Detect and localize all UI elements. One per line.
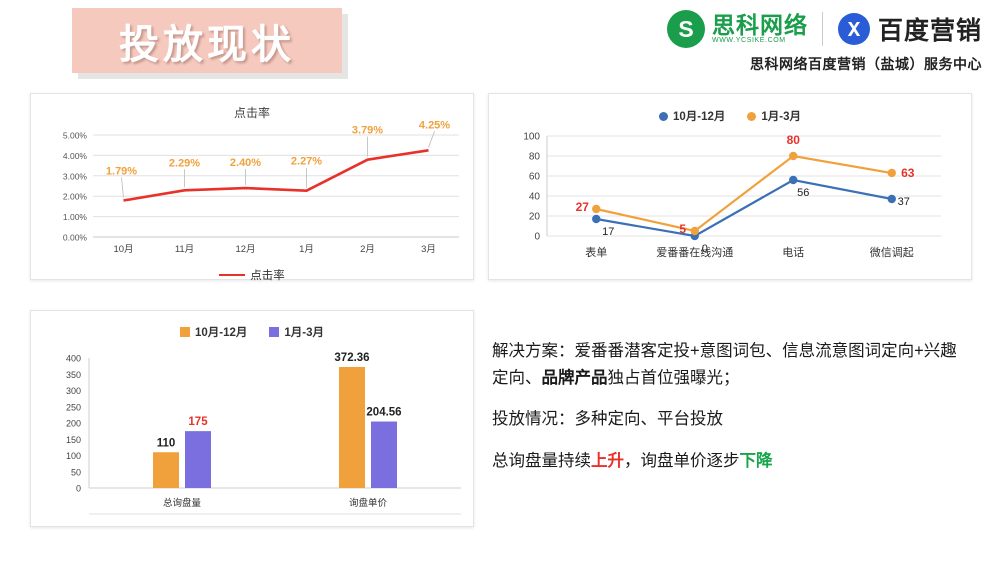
leads-legend-swatch-a (659, 112, 668, 121)
leads-ytick: 0 (534, 232, 540, 243)
leads-legend-swatch-b (747, 112, 756, 121)
bars-legend-label-a: 10月-12月 (195, 324, 247, 340)
ctr-ytick: 1.00% (63, 212, 88, 222)
brand-subtitle: 思科网络百度营销（盐城）服务中心 (562, 54, 982, 74)
bars-legend-swatch-b (269, 327, 279, 337)
bars-xtick: 询盘单价 (349, 497, 388, 509)
solution-bold-1: 品牌产品 (542, 369, 608, 387)
bars-xtick: 总询盘量 (163, 497, 202, 509)
ctr-ytick: 3.00% (63, 171, 88, 181)
baidu-logo-icon (837, 12, 871, 46)
leads-chart-plot: 02040608010017056372758063表单爱番番在线沟通电话微信调… (489, 124, 971, 274)
ctr-data-label: 2.40% (230, 157, 261, 169)
solution-text-3b: ，询盘单价逐步 (624, 452, 740, 470)
solution-trend-up: 上升 (591, 452, 624, 470)
leads-xtick: 爱番番在线沟通 (656, 245, 733, 259)
solution-label-2: 投放情况： (492, 410, 575, 428)
ctr-chart-panel: 点击率 0.00%1.00%2.00%3.00%4.00%5.00%1.79%2… (30, 93, 474, 280)
leads-xtick: 表单 (585, 245, 607, 259)
solution-text-2: 多种定向、平台投放 (575, 410, 724, 428)
leads-ytick: 40 (529, 192, 541, 203)
leads-label-b: 80 (787, 133, 801, 147)
baidu-logo-group: 百度营销 (837, 11, 982, 47)
sike-brand-name: 思科网络 (712, 13, 808, 37)
bars-ytick: 100 (66, 451, 81, 461)
ctr-xtick: 3月 (421, 244, 436, 255)
bars-data-label: 204.56 (366, 407, 401, 419)
ctr-xtick: 11月 (175, 244, 194, 255)
solution-text-1b: 独占首位强曝光； (608, 369, 740, 387)
solution-paragraph-3: 总询盘量持续上升，询盘单价逐步下降 (492, 448, 962, 475)
ctr-xtick: 12月 (235, 244, 255, 255)
sike-logo-group: S 思科网络 WWW.YCSIKE.COM (667, 10, 808, 48)
ctr-data-label: 2.27% (291, 156, 322, 168)
ctr-chart-plot: 0.00%1.00%2.00%3.00%4.00%5.00%1.79%2.29%… (31, 121, 473, 271)
solution-label-1: 解决方案： (492, 342, 575, 360)
bars-chart-legend: 10月-12月 1月-3月 (31, 324, 473, 340)
leads-label-b: 63 (901, 166, 915, 180)
bars-data-label: 372.36 (334, 352, 369, 364)
ctr-data-label: 4.25% (419, 121, 450, 131)
leads-legend-label-a: 10月-12月 (673, 108, 725, 124)
leads-label-b: 5 (679, 222, 686, 236)
bars-ytick: 250 (66, 402, 81, 412)
sike-brand-url: WWW.YCSIKE.COM (712, 37, 808, 44)
bars-ytick: 0 (76, 484, 81, 494)
leads-xtick: 微信调起 (870, 245, 914, 259)
leads-ytick: 100 (523, 132, 540, 143)
slide-title-box: 投放现状 (72, 8, 342, 73)
leads-chart-legend: 10月-12月 1月-3月 (489, 108, 971, 124)
solution-paragraph-2: 投放情况：多种定向、平台投放 (492, 406, 962, 433)
ctr-ytick: 2.00% (63, 192, 88, 202)
solution-text-3a: 总询盘量持续 (492, 452, 591, 470)
solution-trend-down: 下降 (740, 452, 773, 470)
bars-ytick: 50 (71, 467, 81, 477)
solution-text-block: 解决方案：爱番番潜客定投+意图词包、信息流意图词定向+兴趣定向、品牌产品独占首位… (492, 338, 962, 490)
bars-ytick: 350 (66, 370, 81, 380)
leads-legend-label-b: 1月-3月 (761, 108, 801, 124)
baidu-brand-name: 百度营销 (878, 11, 982, 47)
bars-ytick: 150 (66, 435, 81, 445)
bars-legend-swatch-a (180, 327, 190, 337)
leads-label-a: 17 (602, 226, 614, 238)
leads-xtick: 电话 (782, 246, 804, 259)
ctr-data-label: 2.29% (169, 157, 200, 169)
ctr-xtick: 10月 (113, 244, 133, 255)
ctr-data-label: 1.79% (106, 165, 137, 177)
leads-label-b: 27 (576, 200, 590, 214)
brand-header: S 思科网络 WWW.YCSIKE.COM 百度营销 思科网络百度营销（盐城）服… (562, 6, 982, 78)
leads-label-a: 37 (898, 196, 910, 208)
ctr-ytick: 4.00% (63, 151, 88, 161)
leads-ytick: 80 (529, 152, 541, 163)
ctr-chart-title: 点击率 (31, 104, 473, 121)
bars-ytick: 200 (66, 419, 81, 429)
bars-ytick: 400 (66, 354, 81, 364)
bars-legend-label-b: 1月-3月 (284, 324, 324, 340)
bars-chart-plot: 050100150200250300350400110175总询盘量372.36… (31, 340, 473, 522)
ctr-xtick: 2月 (360, 244, 375, 255)
ctr-legend-label: 点击率 (250, 267, 285, 283)
bars-data-label: 175 (188, 416, 208, 428)
bars-data-label: 110 (157, 437, 176, 449)
ctr-data-label: 3.79% (352, 125, 383, 137)
ctr-xtick: 1月 (299, 244, 314, 255)
ctr-legend-swatch (219, 274, 245, 276)
leads-ytick: 20 (529, 212, 541, 223)
bars-ytick: 300 (66, 386, 81, 396)
solution-paragraph-1: 解决方案：爱番番潜客定投+意图词包、信息流意图词定向+兴趣定向、品牌产品独占首位… (492, 338, 962, 391)
ctr-ytick: 0.00% (63, 233, 88, 243)
leads-label-a: 56 (797, 187, 809, 199)
page-title: 投放现状 (72, 8, 342, 73)
brand-divider (822, 12, 823, 46)
bars-chart-panel: 10月-12月 1月-3月 05010015020025030035040011… (30, 310, 474, 527)
leads-chart-panel: 10月-12月 1月-3月 02040608010017056372758063… (488, 93, 972, 280)
sike-logo-icon: S (667, 10, 705, 48)
ctr-ytick: 5.00% (63, 131, 88, 141)
leads-ytick: 60 (529, 172, 541, 183)
ctr-chart-legend: 点击率 (31, 267, 473, 283)
